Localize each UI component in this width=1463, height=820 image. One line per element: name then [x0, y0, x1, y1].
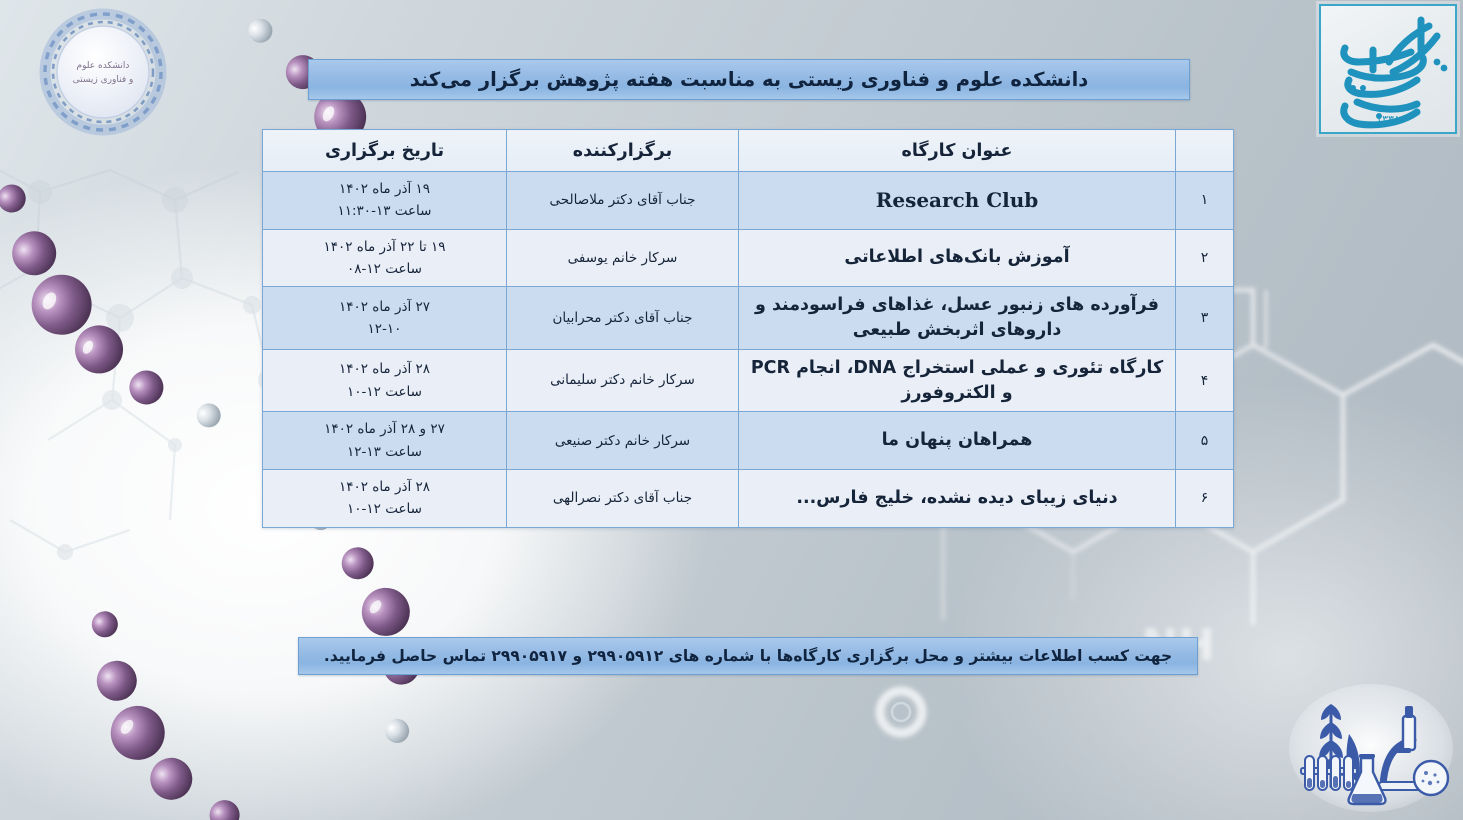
workshop-host: جناب آقای دکتر ملاصالحی — [507, 172, 739, 230]
workshop-date: ۲۷ و ۲۸ آذر ماه ۱۴۰۲ ساعت ۱۳-۱۲ — [263, 412, 507, 470]
table-row: ۵ همراهان پنهان ما سرکار خانم دکتر صنیعی… — [263, 412, 1234, 470]
column-header-date: تاریخ برگزاری — [263, 130, 507, 172]
row-number: ۱ — [1176, 172, 1234, 230]
laboratory-illustration — [1287, 682, 1455, 814]
date-line-1: ۲۷ آذر ماه ۱۴۰۲ — [271, 296, 498, 318]
date-line-1: ۲۸ آذر ماه ۱۴۰۲ — [271, 476, 498, 498]
column-header-number — [1176, 130, 1234, 172]
row-number: ۴ — [1176, 349, 1234, 412]
workshop-date: ۱۹ آذر ماه ۱۴۰۲ ساعت ۱۳-۱۱:۳۰ — [263, 172, 507, 230]
workshop-date: ۲۷ آذر ماه ۱۴۰۲ ۱۲-۱۰ — [263, 287, 507, 350]
workshop-title: Research Club — [739, 172, 1176, 230]
table-row: ۱ Research Club جناب آقای دکتر ملاصالحی … — [263, 172, 1234, 230]
university-logo: ۱۳۳۸ — [1319, 4, 1457, 134]
workshop-title: همراهان پنهان ما — [739, 412, 1176, 470]
faculty-seal: دانشکده علوم و فناوری زیستی — [12, 8, 194, 140]
seal-line-1: دانشکده علوم — [73, 60, 134, 74]
header-banner: دانشکده علوم و فناوری زیستی به مناسبت هف… — [308, 59, 1190, 100]
poster-canvas: CH 3 H NH — [0, 0, 1463, 820]
workshop-host: سرکار خانم یوسفی — [507, 229, 739, 287]
workshop-title: آموزش بانک‌های اطلاعاتی — [739, 229, 1176, 287]
workshop-host: جناب آقای دکتر محرابیان — [507, 287, 739, 350]
date-line-2: ساعت ۱۳-۱۱:۳۰ — [271, 200, 498, 222]
table-row: ۶ دنیای زیبای دیده نشده، خلیج فارس... جن… — [263, 469, 1234, 527]
contact-footer-banner: جهت کسب اطلاعات بیشتر و محل برگزاری کارگ… — [298, 637, 1198, 675]
date-line-1: ۲۸ آذر ماه ۱۴۰۲ — [271, 358, 498, 380]
date-line-2: ۱۲-۱۰ — [271, 318, 498, 340]
petri-dish-icon — [1414, 761, 1448, 795]
table-row: ۲ آموزش بانک‌های اطلاعاتی سرکار خانم یوس… — [263, 229, 1234, 287]
workshop-date: ۲۸ آذر ماه ۱۴۰۲ ساعت ۱۲-۱۰ — [263, 349, 507, 412]
date-line-1: ۱۹ آذر ماه ۱۴۰۲ — [271, 178, 498, 200]
row-number: ۶ — [1176, 469, 1234, 527]
seal-line-2: و فناوری زیستی — [73, 74, 134, 88]
table-header-row: عنوان کارگاه برگزارکننده تاریخ برگزاری — [263, 130, 1234, 172]
date-line-1: ۱۹ تا ۲۲ آذر ماه ۱۴۰۲ — [271, 236, 498, 258]
seal-text: دانشکده علوم و فناوری زیستی — [73, 60, 134, 88]
workshop-schedule-table: عنوان کارگاه برگزارکننده تاریخ برگزاری ۱… — [262, 129, 1234, 528]
date-line-2: ساعت ۱۲-۰۸ — [271, 258, 498, 280]
row-number: ۳ — [1176, 287, 1234, 350]
workshop-title: فرآورده های زنبور عسل، غذاهای فراسودمند … — [739, 287, 1176, 350]
workshop-date: ۲۸ آذر ماه ۱۴۰۲ ساعت ۱۲-۱۰ — [263, 469, 507, 527]
workshop-host: سرکار خانم دکتر سلیمانی — [507, 349, 739, 412]
workshop-title: کارگاه تئوری و عملی استخراج DNA، انجام P… — [739, 349, 1176, 412]
table-body: ۱ Research Club جناب آقای دکتر ملاصالحی … — [263, 172, 1234, 528]
workshop-host: جناب آقای دکتر نصرالهی — [507, 469, 739, 527]
date-line-2: ساعت ۱۳-۱۲ — [271, 441, 498, 463]
column-header-host: برگزارکننده — [507, 130, 739, 172]
date-line-2: ساعت ۱۲-۱۰ — [271, 381, 498, 403]
table-row: ۳ فرآورده های زنبور عسل، غذاهای فراسودمن… — [263, 287, 1234, 350]
date-line-2: ساعت ۱۲-۱۰ — [271, 498, 498, 520]
university-founding-year: ۱۳۳۸ — [1376, 113, 1400, 126]
table-row: ۴ کارگاه تئوری و عملی استخراج DNA، انجام… — [263, 349, 1234, 412]
workshop-title: دنیای زیبای دیده نشده، خلیج فارس... — [739, 469, 1176, 527]
workshop-date: ۱۹ تا ۲۲ آذر ماه ۱۴۰۲ ساعت ۱۲-۰۸ — [263, 229, 507, 287]
row-number: ۲ — [1176, 229, 1234, 287]
date-line-1: ۲۷ و ۲۸ آذر ماه ۱۴۰۲ — [271, 418, 498, 440]
workshop-host: سرکار خانم دکتر صنیعی — [507, 412, 739, 470]
column-header-title: عنوان کارگاه — [739, 130, 1176, 172]
row-number: ۵ — [1176, 412, 1234, 470]
